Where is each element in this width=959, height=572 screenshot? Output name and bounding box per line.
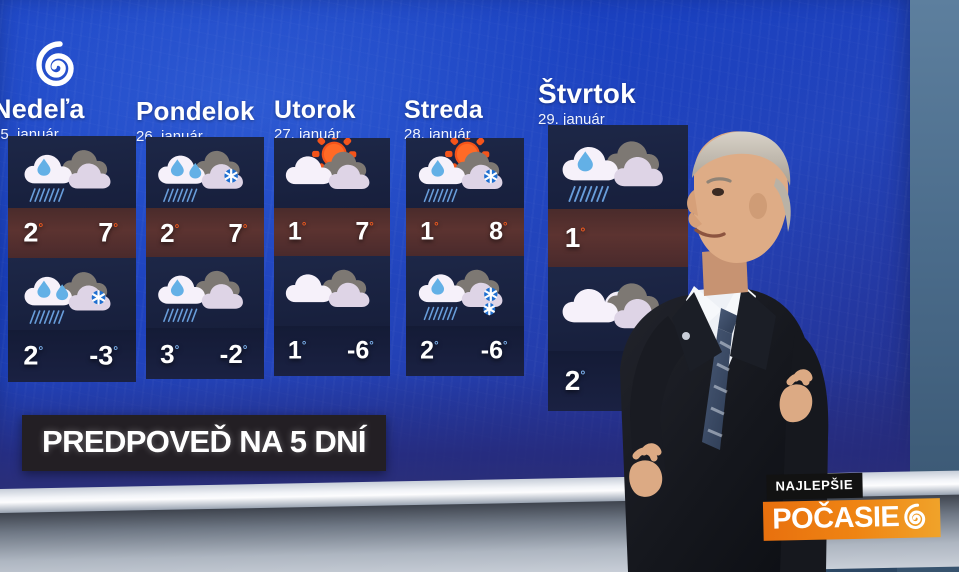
day-weather-icons [146,137,264,208]
degree-symbol: ° [38,344,43,358]
degree-symbol: ° [243,343,248,356]
degree-symbol: ° [175,222,180,235]
day-name: Streda [404,96,483,125]
swirl-logo-icon [903,502,933,532]
temp-high: -2° [220,341,248,367]
temp-low: 2° [23,220,43,247]
station-logo: NAJLEPŠIE POČASIE [762,471,940,541]
temp-low: 2° [420,339,438,364]
station-logo-top-text: NAJLEPŠIE [775,477,853,494]
degree-symbol: ° [503,340,508,352]
night-temperature-band: 2°-3° [8,330,136,382]
temp-high: 7° [228,220,247,246]
day-temperature-band: 2°7° [8,208,136,258]
swirl-logo-icon [34,40,86,92]
degree-symbol: ° [369,221,374,233]
station-logo-main: POČASIE [763,498,941,541]
temp-low: 1° [288,339,306,364]
degree-symbol: ° [243,222,248,235]
temp-low: 2° [23,343,43,370]
temp-low: 1° [288,220,306,245]
day-name: Štvrtok [538,78,636,110]
temp-high: -6° [347,339,374,364]
night-temperature-band: 1°-6° [274,326,390,376]
forecast-title-text: PREDPOVEĎ NA 5 DNÍ [42,424,366,459]
temp-high: 7° [98,220,118,247]
temp-low: 1° [420,220,438,245]
degree-symbol: ° [113,221,118,235]
forecast-panel-3[interactable]: 1°7°1°-6° [274,138,390,376]
night-temperature-band: 3°-2° [146,328,264,379]
forecast-title-banner: PREDPOVEĎ NA 5 DNÍ [22,415,386,471]
night-weather-icons [8,258,136,330]
degree-symbol: ° [580,369,585,383]
night-weather-icons [406,256,524,326]
degree-symbol: ° [38,221,43,235]
degree-symbol: ° [434,221,439,233]
day-temperature-band: 1°7° [274,208,390,256]
day-header-4: Streda28. január [404,96,483,143]
temp-low: 1° [565,224,586,252]
temp-low: 2° [565,367,586,395]
day-weather-icons [274,138,390,208]
day-weather-icons [8,136,136,208]
broadcast-screenshot: Nedeľa25. január2°7°2°-3°Pondelok26. jan… [0,0,959,572]
station-logo-main-text: POČASIE [772,501,900,537]
degree-symbol: ° [302,221,307,233]
degree-symbol: ° [503,221,508,233]
day-weather-icons [406,138,524,208]
day-temperature-band: 1°8° [406,208,524,256]
day-name: Pondelok [136,96,255,127]
night-weather-icons [146,257,264,328]
degree-symbol: ° [113,344,118,358]
temp-low: 2° [160,220,179,246]
day-header-3: Utorok27. január [274,96,356,143]
night-temperature-band: 2°-6° [406,326,524,376]
temp-high: -3° [89,343,118,370]
temp-high: 8° [489,220,507,245]
degree-symbol: ° [175,343,180,356]
degree-symbol: ° [369,340,374,352]
degree-symbol: ° [434,340,439,352]
forecast-panel-1[interactable]: 2°7°2°-3° [8,136,136,382]
temp-low: 3° [160,341,179,367]
night-weather-icons [274,256,390,326]
temp-high: -6° [481,339,508,364]
temp-high: 7° [355,220,373,245]
degree-symbol: ° [302,340,307,352]
station-logo-top: NAJLEPŠIE [766,473,862,500]
day-name: Utorok [274,96,356,125]
forecast-panel-4[interactable]: 1°8°2°-6° [406,138,524,376]
degree-symbol: ° [580,226,585,240]
forecast-panel-2[interactable]: 2°7°3°-2° [146,137,264,379]
day-temperature-band: 2°7° [146,208,264,257]
day-name: Nedeľa [0,94,85,125]
